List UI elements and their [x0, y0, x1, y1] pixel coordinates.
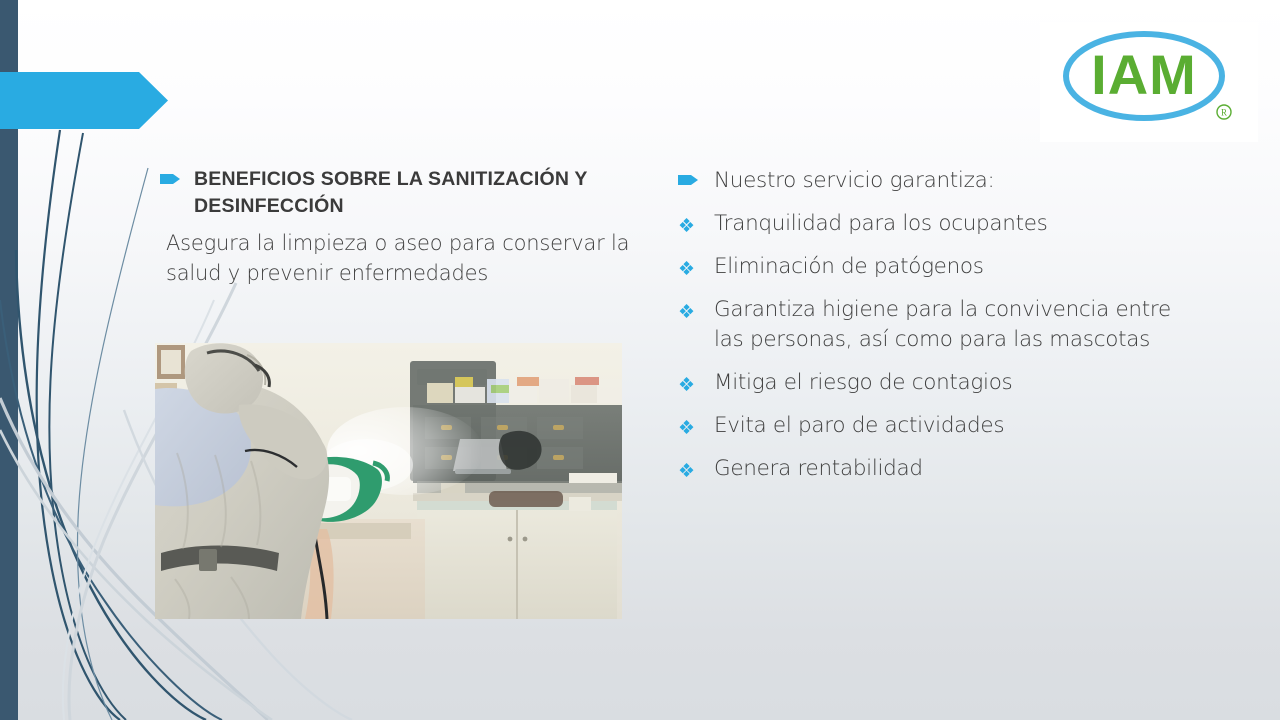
right-content-column: Nuestro servicio garantiza: ❖ Tranquilid…: [678, 166, 1190, 497]
disinfection-photo: [155, 343, 622, 619]
list-item-label: Mitiga el riesgo de contagios: [714, 368, 1012, 398]
diamond-cluster-icon: ❖: [678, 411, 714, 438]
diamond-cluster-icon: ❖: [678, 295, 714, 322]
pennant-icon: [678, 166, 714, 186]
diamond-cluster-icon: ❖: [678, 209, 714, 236]
list-item: ❖ Tranquilidad para los ocupantes: [678, 209, 1190, 239]
list-item-label: Evita el paro de actividades: [714, 411, 1004, 441]
list-item-label: Garantiza higiene para la convivencia en…: [714, 295, 1190, 355]
diamond-cluster-icon: ❖: [678, 454, 714, 481]
list-item-label: Eliminación de patógenos: [714, 252, 984, 282]
svg-text:R: R: [1221, 108, 1227, 118]
heading-bullet-row: BENEFICIOS SOBRE LA SANITIZACIÓN Y DESIN…: [160, 166, 635, 220]
list-item: ❖ Mitiga el riesgo de contagios: [678, 368, 1190, 398]
list-item: ❖ Garantiza higiene para la convivencia …: [678, 295, 1190, 355]
svg-text:IAM: IAM: [1091, 43, 1197, 106]
page-title: BENEFICIOS SOBRE LA SANITIZACIÓN Y DESIN…: [194, 166, 635, 220]
diamond-cluster-icon: ❖: [678, 368, 714, 395]
list-item: ❖ Genera rentabilidad: [678, 454, 1190, 484]
left-body-text: Asegura la limpieza o aseo para conserva…: [166, 228, 635, 288]
list-item: ❖ Eliminación de patógenos: [678, 252, 1190, 282]
diamond-cluster-icon: ❖: [678, 252, 714, 279]
arrow-banner-shape: [0, 72, 168, 129]
left-content-column: BENEFICIOS SOBRE LA SANITIZACIÓN Y DESIN…: [160, 166, 635, 288]
list-item: ❖ Evita el paro de actividades: [678, 411, 1190, 441]
right-lead-text: Nuestro servicio garantiza:: [714, 166, 994, 196]
list-item-label: Tranquilidad para los ocupantes: [714, 209, 1048, 239]
right-lead-row: Nuestro servicio garantiza:: [678, 166, 1190, 196]
pennant-icon: [160, 166, 194, 185]
brand-logo: IAM R: [1040, 22, 1258, 142]
presentation-slide: IAM R BENEFICIOS SOBRE LA SANITIZACIÓN Y…: [0, 0, 1280, 720]
list-item-label: Genera rentabilidad: [714, 454, 923, 484]
